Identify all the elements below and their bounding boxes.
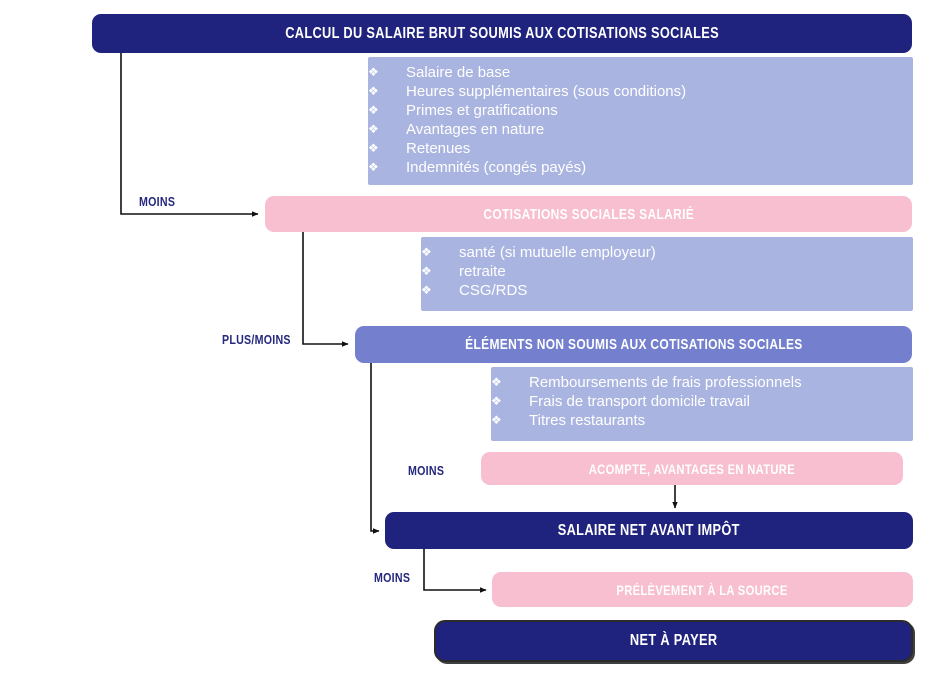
list-item-label: Heures supplémentaires (sous conditions)	[406, 82, 913, 101]
list-item: ❖ Titres restaurants	[491, 411, 913, 430]
list-item: ❖ Primes et gratifications	[368, 101, 913, 120]
list-item: ❖ retraite	[421, 262, 913, 281]
bullet-list: ❖ Salaire de base ❖ Heures supplémentair…	[368, 63, 913, 177]
node-net-a-payer[interactable]: NET À PAYER	[434, 620, 913, 662]
diamond-bullet-icon: ❖	[491, 411, 529, 430]
list-item: ❖ Salaire de base	[368, 63, 913, 82]
operator-text: MOINS	[408, 463, 444, 478]
panel-salaire-brut-items: ❖ Salaire de base ❖ Heures supplémentair…	[368, 57, 913, 185]
bullet-list: ❖ Remboursements de frais professionnels…	[491, 373, 913, 430]
diamond-bullet-icon: ❖	[421, 262, 459, 281]
panel-non-soumis-items: ❖ Remboursements de frais professionnels…	[491, 367, 913, 441]
list-item-label: Avantages en nature	[406, 120, 913, 139]
list-item-label: Indemnités (congés payés)	[406, 158, 913, 177]
diamond-bullet-icon: ❖	[368, 158, 406, 177]
flowchart-canvas: CALCUL DU SALAIRE BRUT SOUMIS AUX COTISA…	[0, 0, 937, 687]
node-salaire-brut[interactable]: CALCUL DU SALAIRE BRUT SOUMIS AUX COTISA…	[92, 14, 912, 53]
node-acompte-label: ACOMPTE, AVANTAGES EN NATURE	[589, 461, 795, 477]
diamond-bullet-icon: ❖	[491, 392, 529, 411]
node-prelevement-source[interactable]: PRÉLÈVEMENT À LA SOURCE	[492, 572, 913, 607]
list-item: ❖ Heures supplémentaires (sous condition…	[368, 82, 913, 101]
list-item: ❖ Indemnités (congés payés)	[368, 158, 913, 177]
list-item-label: Frais de transport domicile travail	[529, 392, 913, 411]
list-item-label: Remboursements de frais professionnels	[529, 373, 913, 392]
diamond-bullet-icon: ❖	[368, 82, 406, 101]
list-item: ❖ Frais de transport domicile travail	[491, 392, 913, 411]
list-item-label: Primes et gratifications	[406, 101, 913, 120]
node-prelevement-source-label: PRÉLÈVEMENT À LA SOURCE	[617, 582, 788, 598]
diamond-bullet-icon: ❖	[368, 139, 406, 158]
node-salaire-brut-label: CALCUL DU SALAIRE BRUT SOUMIS AUX COTISA…	[285, 25, 719, 43]
operator-text: MOINS	[374, 570, 410, 585]
list-item: ❖ CSG/RDS	[421, 281, 913, 300]
node-salaire-net-avant-impot-label: SALAIRE NET AVANT IMPÔT	[558, 522, 740, 540]
operator-text: MOINS	[139, 194, 175, 209]
bullet-list: ❖ santé (si mutuelle employeur) ❖ retrai…	[421, 243, 913, 300]
list-item-label: CSG/RDS	[459, 281, 913, 300]
diamond-bullet-icon: ❖	[368, 63, 406, 82]
diamond-bullet-icon: ❖	[368, 101, 406, 120]
list-item: ❖ santé (si mutuelle employeur)	[421, 243, 913, 262]
list-item-label: retraite	[459, 262, 913, 281]
operator-label-plus-moins: PLUS/MOINS	[222, 332, 306, 347]
list-item: ❖ Avantages en nature	[368, 120, 913, 139]
node-cotisations-salarie[interactable]: COTISATIONS SOCIALES SALARIÉ	[265, 196, 912, 232]
list-item-label: Retenues	[406, 139, 913, 158]
node-salaire-net-avant-impot[interactable]: SALAIRE NET AVANT IMPÔT	[385, 512, 913, 549]
operator-label-moins-3: MOINS	[374, 570, 418, 585]
list-item-label: Salaire de base	[406, 63, 913, 82]
list-item-label: Titres restaurants	[529, 411, 913, 430]
node-acompte[interactable]: ACOMPTE, AVANTAGES EN NATURE	[481, 452, 903, 485]
operator-text: PLUS/MOINS	[222, 332, 291, 347]
operator-label-moins-1: MOINS	[139, 194, 183, 209]
list-item: ❖ Remboursements de frais professionnels	[491, 373, 913, 392]
panel-cotisations-items: ❖ santé (si mutuelle employeur) ❖ retrai…	[421, 237, 913, 311]
node-cotisations-salarie-label: COTISATIONS SOCIALES SALARIÉ	[483, 206, 694, 223]
diamond-bullet-icon: ❖	[491, 373, 529, 392]
diamond-bullet-icon: ❖	[368, 120, 406, 139]
diamond-bullet-icon: ❖	[421, 243, 459, 262]
node-elements-non-soumis[interactable]: ÉLÉMENTS NON SOUMIS AUX COTISATIONS SOCI…	[355, 326, 912, 363]
operator-label-moins-2: MOINS	[408, 463, 452, 478]
node-elements-non-soumis-label: ÉLÉMENTS NON SOUMIS AUX COTISATIONS SOCI…	[465, 336, 802, 353]
diamond-bullet-icon: ❖	[421, 281, 459, 300]
node-net-a-payer-label: NET À PAYER	[630, 632, 717, 650]
list-item: ❖ Retenues	[368, 139, 913, 158]
list-item-label: santé (si mutuelle employeur)	[459, 243, 913, 262]
